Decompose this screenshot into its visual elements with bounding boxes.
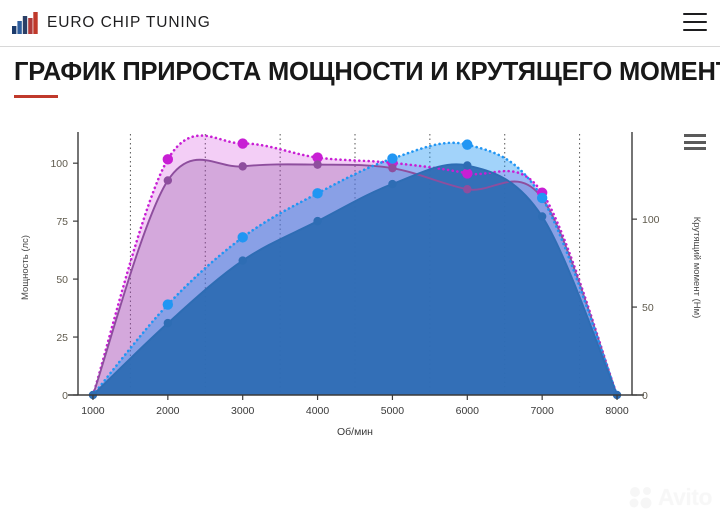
data-point-marker[interactable] — [239, 256, 247, 264]
y-axis-title-right: Крутящий момент (Нм) — [691, 217, 702, 319]
hamburger-menu-icon[interactable] — [683, 11, 707, 33]
x-tick-label: 1000 — [81, 405, 105, 417]
data-point-marker[interactable] — [313, 160, 321, 168]
x-tick-label: 4000 — [306, 405, 330, 417]
avito-logo-icon — [629, 486, 655, 510]
data-point-marker[interactable] — [538, 212, 546, 220]
chart-hamburger-menu-icon[interactable] — [684, 134, 706, 150]
data-point-marker[interactable] — [313, 217, 321, 225]
data-point-marker[interactable] — [388, 164, 396, 172]
page-root: EURO CHIP TUNING ГРАФИК ПРИРОСТА МОЩНОСТ… — [0, 0, 720, 517]
x-tick-label: 2000 — [156, 405, 180, 417]
data-point-marker[interactable] — [387, 153, 397, 163]
y-tick-label-left: 0 — [62, 390, 68, 402]
data-point-marker[interactable] — [463, 185, 471, 193]
data-point-marker[interactable] — [238, 232, 248, 242]
avito-watermark: Avito — [629, 484, 712, 511]
x-tick-label: 3000 — [231, 405, 255, 417]
data-point-marker[interactable] — [163, 299, 173, 309]
chart-menu-line-2 — [684, 141, 706, 144]
y-axis-title-left: Мощность (лс) — [20, 235, 31, 300]
y-tick-label-left: 75 — [56, 216, 68, 228]
y-tick-label-right: 50 — [642, 302, 654, 314]
y-tick-label-right: 0 — [642, 390, 648, 402]
data-point-marker[interactable] — [312, 188, 322, 198]
x-tick-label: 7000 — [530, 405, 554, 417]
data-point-marker[interactable] — [388, 180, 396, 188]
data-point-marker[interactable] — [462, 168, 472, 178]
data-point-marker[interactable] — [164, 176, 172, 184]
site-header: EURO CHIP TUNING — [0, 0, 720, 47]
x-tick-label: 5000 — [381, 405, 405, 417]
data-point-marker[interactable] — [537, 193, 547, 203]
chart-menu-line-1 — [684, 134, 706, 137]
x-tick-label: 6000 — [456, 405, 480, 417]
burger-line-3 — [683, 29, 707, 31]
data-point-marker[interactable] — [463, 161, 471, 169]
avito-watermark-text: Avito — [658, 484, 712, 511]
page-title: ГРАФИК ПРИРОСТА МОЩНОСТИ И КРУТЯЩЕГО МОМ… — [0, 47, 720, 86]
data-point-marker[interactable] — [462, 139, 472, 149]
title-accent-rule — [14, 95, 58, 98]
y-tick-label-left: 100 — [50, 158, 68, 170]
y-tick-label-left: 25 — [56, 332, 68, 344]
y-tick-label-left: 50 — [56, 274, 68, 286]
chart-card: 0255075100050100100020003000400050006000… — [0, 118, 720, 517]
data-point-marker[interactable] — [239, 162, 247, 170]
power-torque-chart[interactable]: 0255075100050100100020003000400050006000… — [0, 118, 720, 448]
brand-logo[interactable]: EURO CHIP TUNING — [12, 12, 211, 34]
burger-line-1 — [683, 13, 707, 15]
x-tick-label: 8000 — [605, 405, 629, 417]
y-tick-label-right: 100 — [642, 214, 660, 226]
chart-menu-line-3 — [684, 147, 706, 150]
x-axis-title: Об/мин — [337, 426, 373, 438]
brand-name: EURO CHIP TUNING — [47, 14, 211, 32]
data-point-marker[interactable] — [238, 138, 248, 148]
title-block: ГРАФИК ПРИРОСТА МОЩНОСТИ И КРУТЯЩЕГО МОМ… — [0, 47, 720, 98]
bar-chart-logo-icon — [12, 12, 38, 34]
data-point-marker[interactable] — [164, 319, 172, 327]
burger-line-2 — [683, 21, 707, 23]
data-point-marker[interactable] — [163, 154, 173, 164]
